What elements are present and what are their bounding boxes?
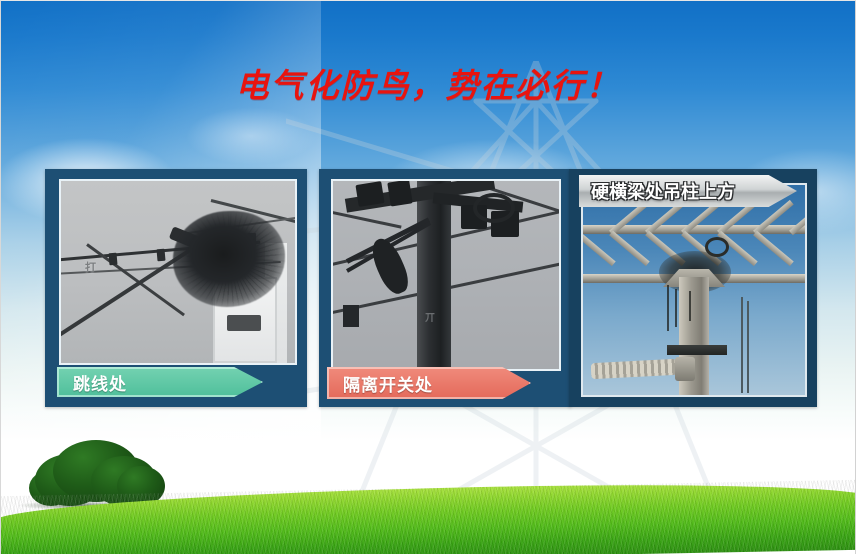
isolating-switch-icon — [366, 234, 413, 298]
photo-bird-nest-jumper-wire: 打 — [61, 181, 295, 363]
wire-clamp-icon — [108, 253, 117, 266]
insulator-icon — [387, 179, 412, 206]
insulator-cap-icon — [675, 357, 695, 381]
photo-frame: 丌 — [331, 179, 561, 371]
switch-ring-icon — [473, 193, 515, 223]
panel-banner-isolating-switch[interactable]: 隔离开关处 — [327, 367, 531, 399]
panel-banner-jumper-wire[interactable]: 跳线处 — [57, 367, 263, 397]
photo-panel-jumper-wire[interactable]: 打 跳线处 — [45, 169, 307, 407]
insulator-icon — [355, 181, 384, 207]
utility-pole-icon — [417, 179, 451, 371]
slide-canvas: 电气化防鸟，势在必行！ — [0, 0, 856, 554]
page-title: 电气化防鸟，势在必行！ — [1, 59, 855, 107]
contact-wire — [741, 297, 743, 393]
banner-label: 隔离开关处 — [343, 371, 433, 396]
power-line — [331, 209, 402, 229]
photo-overlay-text: 丌 — [425, 309, 436, 324]
panel-row: 打 跳线处 — [1, 169, 855, 409]
hanging-debris — [689, 291, 691, 321]
photo-panel-rigid-beam[interactable]: 硬横梁处吊柱上方 — [569, 169, 817, 407]
hanging-debris — [667, 285, 669, 331]
ground-area — [1, 434, 855, 554]
photo-panel-isolating-switch[interactable]: 丌 隔离开关处 — [319, 169, 571, 407]
photo-isolating-switch: 丌 — [333, 181, 559, 369]
brace-icon — [343, 305, 359, 327]
photo-frame: 打 — [59, 179, 297, 365]
contact-wire — [747, 301, 749, 393]
insulator-icon — [591, 359, 678, 379]
photo-overlay-text: 打 — [85, 259, 97, 275]
banner-label: 硬横梁处吊柱上方 — [591, 178, 735, 204]
photo-frame — [581, 183, 807, 397]
banner-label: 跳线处 — [73, 370, 127, 395]
clamp-bar-icon — [667, 345, 727, 355]
panel-banner-rigid-beam[interactable]: 硬横梁处吊柱上方 — [579, 175, 797, 207]
hanging-debris — [675, 289, 677, 327]
photo-steel-lattice-beam — [583, 185, 805, 395]
